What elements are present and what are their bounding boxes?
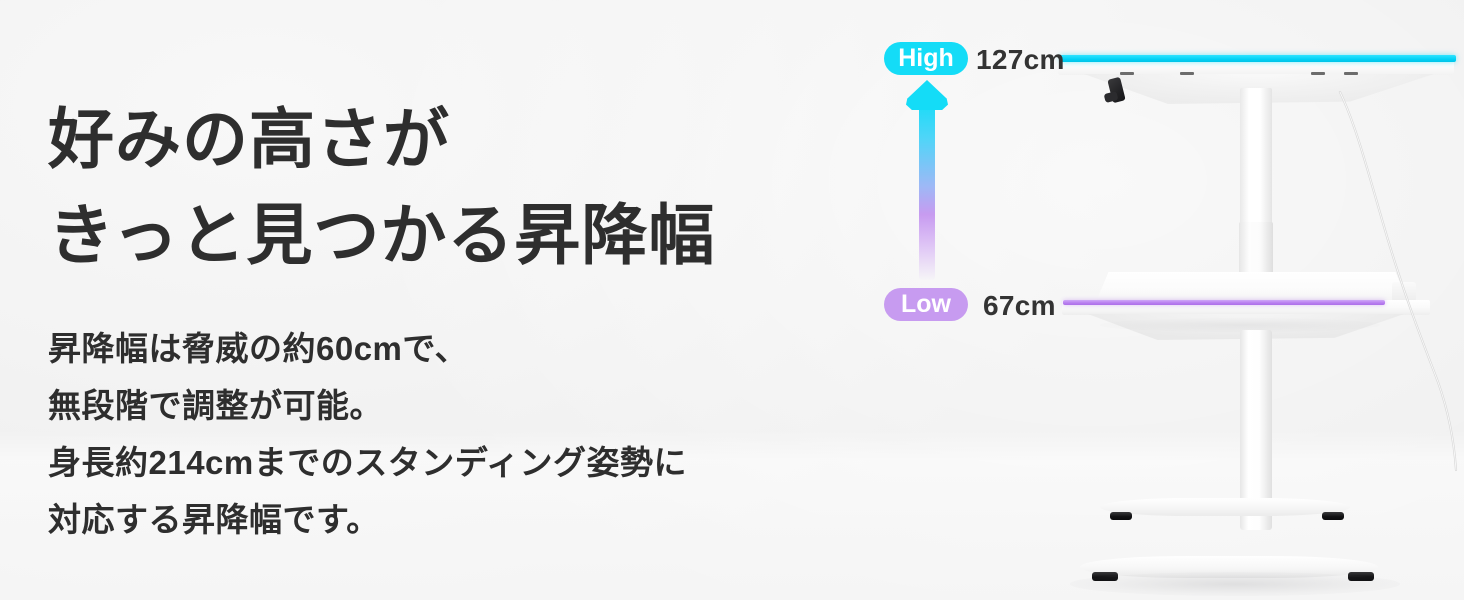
body-line-1: 昇降幅は脅威の約60cmで、 bbox=[48, 321, 868, 378]
desk-column-upper-segment bbox=[1239, 222, 1273, 274]
desktop-lowered bbox=[1062, 272, 1430, 314]
badge-low: Low bbox=[884, 288, 968, 321]
measurement-rule-low bbox=[1063, 300, 1385, 305]
headline-line-1: 好みの高さが bbox=[48, 92, 868, 188]
arrow-shaft bbox=[919, 98, 935, 280]
desk-column-upper bbox=[1240, 88, 1272, 238]
desk-base-front bbox=[1080, 556, 1378, 578]
copy-block: 好みの高さが きっと見つかる昇降幅 昇降幅は脅威の約60cmで、 無段階で調整が… bbox=[48, 92, 868, 548]
measurement-value-low: 67cm bbox=[983, 292, 1056, 320]
desktop-lowered-surface bbox=[1096, 272, 1408, 302]
desk-foot-front-right bbox=[1348, 572, 1374, 581]
desk-base-rear bbox=[1100, 498, 1350, 516]
hero-banner: 好みの高さが きっと見つかる昇降幅 昇降幅は脅威の約60cmで、 無段階で調整が… bbox=[0, 0, 1464, 600]
desk-mount-notch bbox=[1120, 72, 1134, 75]
height-range-arrow-icon bbox=[906, 80, 948, 280]
desk-mount-notch bbox=[1344, 72, 1358, 75]
measurement-rule-high bbox=[1060, 55, 1456, 62]
body-line-4: 対応する昇降幅です。 bbox=[48, 492, 868, 549]
desktop-lowered-cable-cutout bbox=[1392, 282, 1416, 302]
headline-line-2: きっと見つかる昇降幅 bbox=[48, 188, 868, 284]
badge-high: High bbox=[884, 42, 968, 75]
arrow-head-up-icon bbox=[906, 80, 948, 110]
body-copy: 昇降幅は脅威の約60cmで、 無段階で調整が可能。 身長約214cmまでのスタン… bbox=[48, 321, 868, 548]
measurement-value-high: 127cm bbox=[976, 46, 1065, 74]
body-line-2: 無段階で調整が可能。 bbox=[48, 378, 868, 435]
desk-foot-rear-left bbox=[1110, 512, 1132, 520]
desktop-raised bbox=[1058, 58, 1454, 92]
desk-mount-notch bbox=[1311, 72, 1325, 75]
desk-foot-rear-right bbox=[1322, 512, 1344, 520]
body-line-3: 身長約214cmまでのスタンディング姿勢に bbox=[48, 435, 868, 492]
desk-mount-notch bbox=[1180, 72, 1194, 75]
desk-foot-front-left bbox=[1092, 572, 1118, 581]
